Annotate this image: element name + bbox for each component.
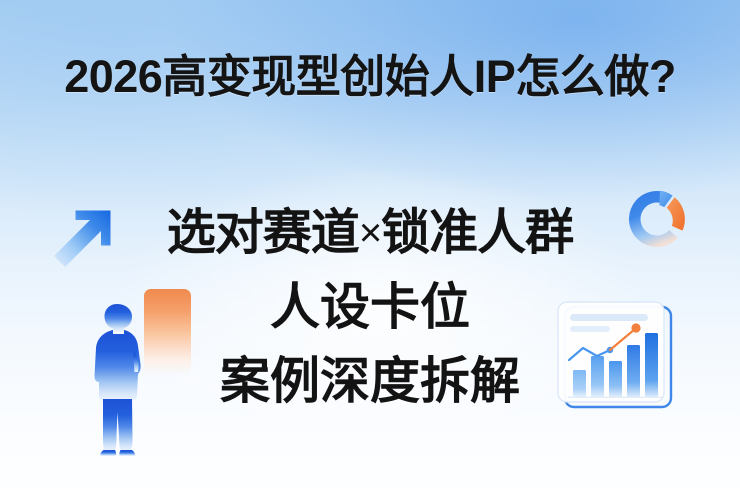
chart-bar-2 [591, 356, 604, 397]
card-placeholder-line-2 [570, 326, 610, 332]
headline-line-1: 选对赛道×锁准人群 [100, 196, 640, 270]
headline-multiply-symbol: × [359, 211, 381, 255]
donut-chart-icon [624, 186, 690, 252]
chart-bar-5 [645, 333, 658, 397]
chart-bar-4 [627, 345, 640, 397]
analytics-chart-card [552, 298, 680, 416]
chart-bar-3 [609, 361, 622, 397]
headline-line-1-part-b: 锁准人群 [381, 206, 573, 260]
page-title: 2026高变现型创始人IP怎么做? [0, 54, 740, 99]
headline-line-1-part-a: 选对赛道 [167, 206, 359, 260]
chart-trend-marker [631, 323, 640, 332]
chart-bar-1 [573, 370, 586, 397]
card-placeholder-line-1 [570, 314, 648, 321]
poster-canvas: 2026高变现型创始人IP怎么做? [0, 0, 740, 488]
